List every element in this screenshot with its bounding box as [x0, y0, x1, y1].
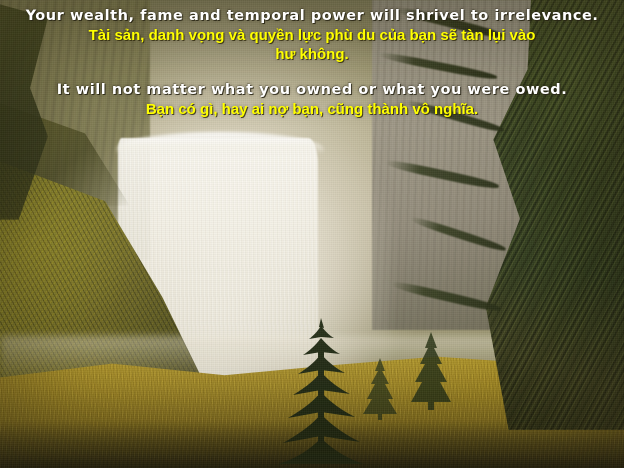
caption-vietnamese-line-3: Bạn có gì, hay ai nợ bạn, cũng thành vô …: [0, 100, 624, 120]
caption-english-line-1: Your wealth, fame and temporal power wil…: [0, 7, 624, 26]
caption-block: Your wealth, fame and temporal power wil…: [0, 0, 624, 119]
lone-fir-tree: [268, 318, 374, 464]
caption-english-line-2: It will not matter what you owned or wha…: [0, 81, 624, 100]
caption-vietnamese-line-1: Tài sản, danh vọng và quyền lực phù du c…: [0, 26, 624, 46]
image-canvas: Your wealth, fame and temporal power wil…: [0, 0, 624, 468]
caption-stanza-gap: [0, 65, 624, 81]
background-fir-tree: [404, 332, 458, 410]
caption-vietnamese-line-2: hư không.: [0, 45, 624, 65]
